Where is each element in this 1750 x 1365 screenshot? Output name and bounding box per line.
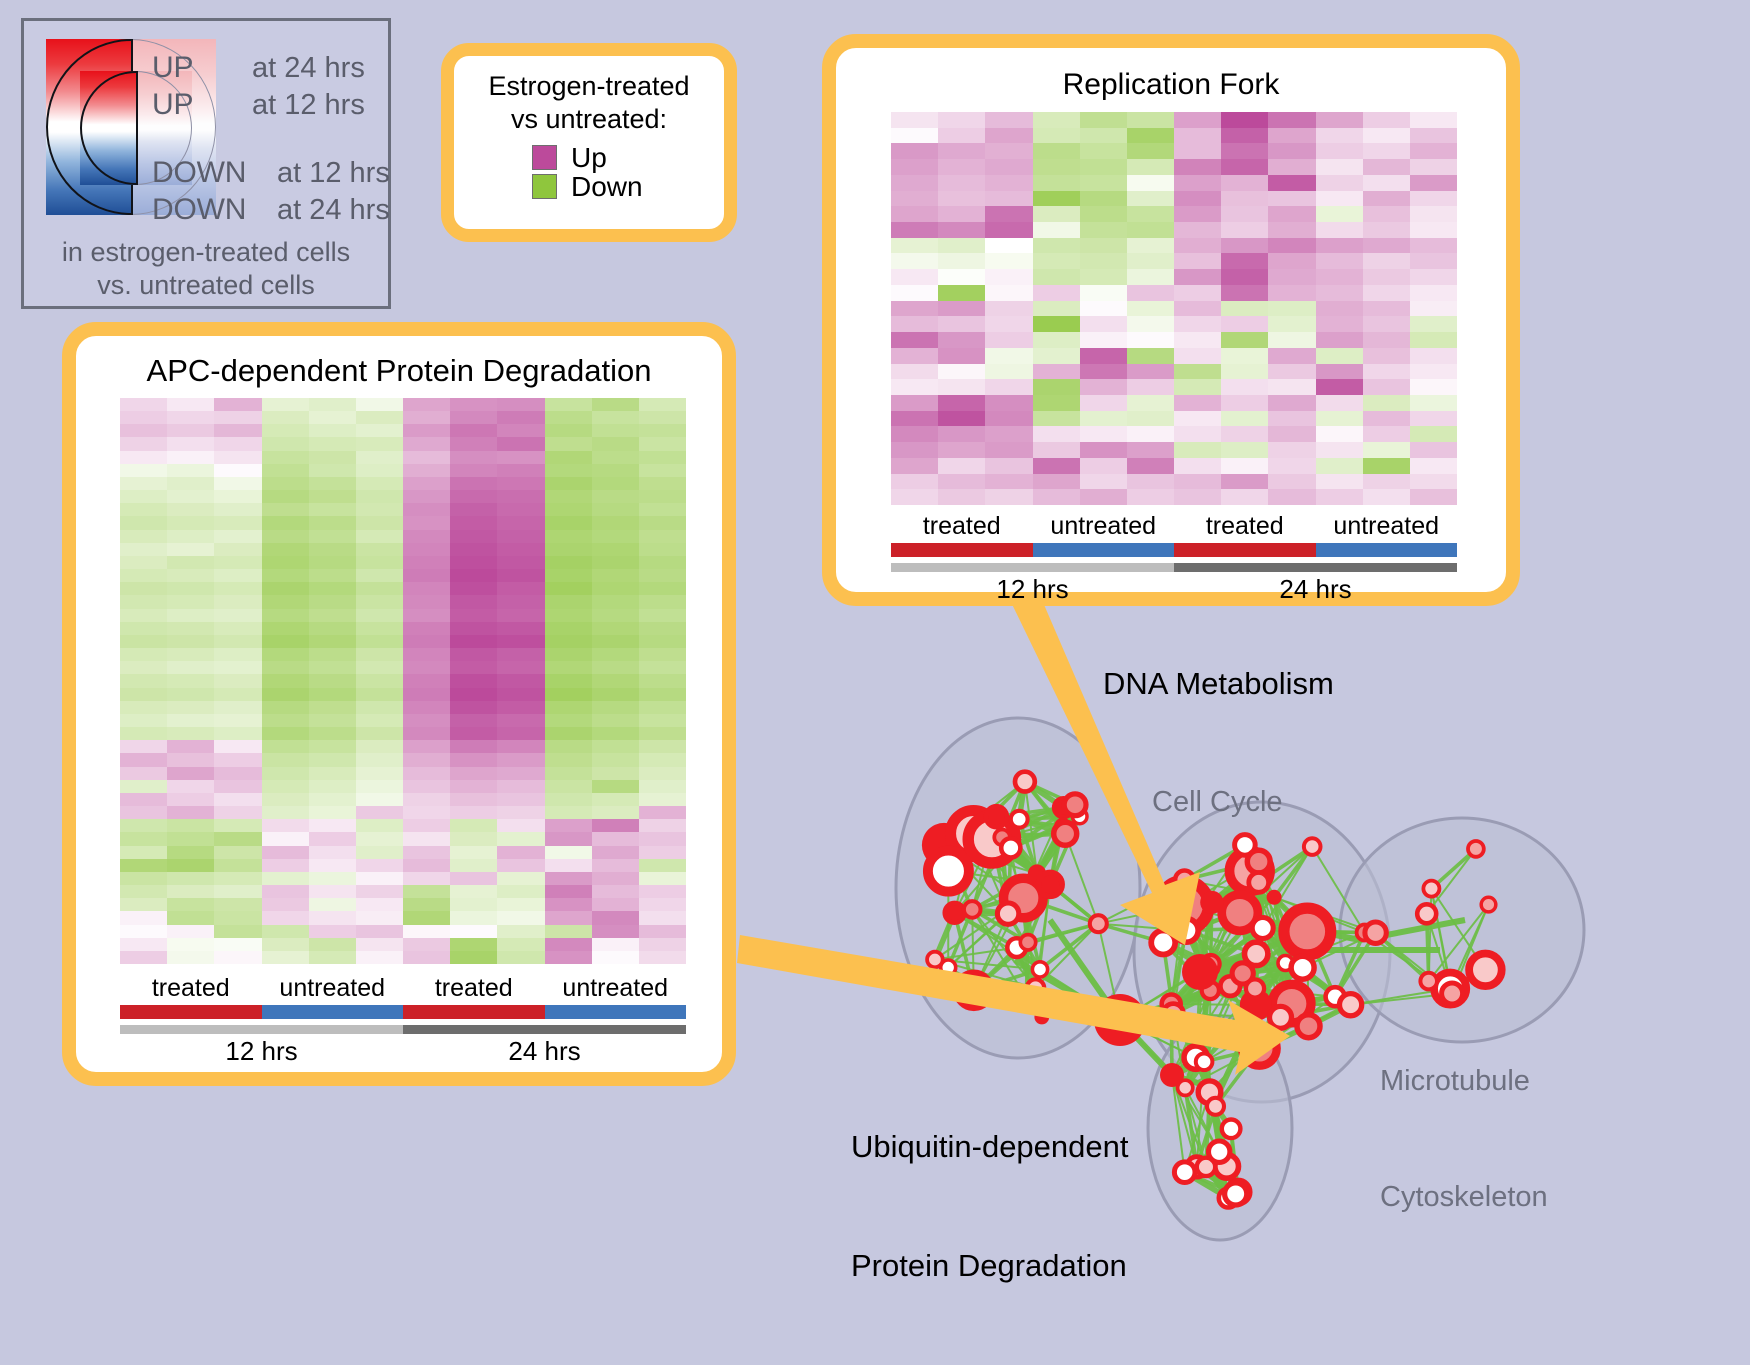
heatmap-cell: [1363, 395, 1410, 411]
color-key-title-line2: vs untreated:: [454, 103, 724, 136]
heatmap-cell: [1268, 222, 1315, 238]
network-node[interactable]: [1252, 918, 1273, 939]
heatmap-cell: [403, 477, 450, 490]
heatmap-cell: [214, 424, 261, 437]
heatmap-cell: [120, 846, 167, 859]
heatmap-cell: [545, 898, 592, 911]
heatmap-cell: [497, 582, 544, 595]
heatmap-cell: [356, 780, 403, 793]
heatmap-cell: [167, 819, 214, 832]
heatmap-cell: [309, 609, 356, 622]
heatmap-cell: [309, 516, 356, 529]
network-node[interactable]: [1011, 811, 1028, 828]
heatmap-cell: [167, 648, 214, 661]
network-node[interactable]: [928, 851, 969, 892]
heatmap-cell: [214, 530, 261, 543]
heatmap-cell: [214, 648, 261, 661]
heatmap-cell: [1033, 301, 1080, 317]
heatmap-cell: [1268, 411, 1315, 427]
heatmap-cell: [545, 846, 592, 859]
network-node[interactable]: [1038, 873, 1062, 897]
heatmap-cell: [545, 714, 592, 727]
heatmap-cell: [309, 911, 356, 924]
heatmap-cell: [120, 595, 167, 608]
heatmap-cell: [1316, 489, 1363, 505]
heatmap-cell: [497, 846, 544, 859]
heatmap-cell: [1410, 175, 1457, 191]
heatmap-cell: [120, 872, 167, 885]
heatmap-cell: [1316, 253, 1363, 269]
color-key-item-up: Up: [532, 144, 724, 172]
heatmap-cell: [1316, 411, 1363, 427]
heatmap-cell: [497, 872, 544, 885]
heatmap-cell: [356, 530, 403, 543]
heatmap-cell: [938, 316, 985, 332]
time-label: 12 hrs: [120, 1036, 403, 1067]
heatmap-cell: [1174, 222, 1221, 238]
heatmap-cell: [497, 503, 544, 516]
heatmap-cell: [120, 701, 167, 714]
heatmap-cell: [120, 898, 167, 911]
network-node[interactable]: [1247, 850, 1270, 873]
heatmap-cell: [938, 222, 985, 238]
network-node[interactable]: [1175, 871, 1194, 890]
heatmap-cell: [167, 701, 214, 714]
heatmap-cell: [1080, 364, 1127, 380]
heatmap-cell: [592, 569, 639, 582]
heatmap-cell: [592, 411, 639, 424]
network-node[interactable]: [1304, 838, 1321, 855]
network-node[interactable]: [1222, 1120, 1241, 1139]
heatmap-cell: [214, 569, 261, 582]
network-node[interactable]: [1340, 994, 1362, 1016]
heatmap-cell: [1127, 269, 1174, 285]
heatmap-cell: [592, 832, 639, 845]
heatmap-cell: [938, 474, 985, 490]
network-node[interactable]: [1151, 931, 1175, 955]
heatmap-cell: [167, 925, 214, 938]
network-node[interactable]: [1297, 1015, 1320, 1038]
heatmap-cell: [403, 701, 450, 714]
heatmap-cell: [1363, 238, 1410, 254]
heatmap-cell: [592, 846, 639, 859]
cluster-label-microtubule-line1: Microtubule: [1380, 1062, 1548, 1101]
heatmap-cell: [891, 442, 938, 458]
heatmap-cell: [1080, 442, 1127, 458]
heatmap-cell: [167, 661, 214, 674]
heatmap-cell: [167, 714, 214, 727]
heatmap-cell: [985, 191, 1032, 207]
heatmap-cell: [1127, 395, 1174, 411]
network-node[interactable]: [1207, 1098, 1224, 1115]
network-node[interactable]: [1015, 772, 1035, 792]
network-node[interactable]: [997, 903, 1018, 924]
heatmap-cell: [639, 464, 686, 477]
heatmap-cell: [891, 112, 938, 128]
heatmap-cell: [214, 740, 261, 753]
heatmap-cell: [262, 911, 309, 924]
heatmap-cell: [938, 238, 985, 254]
heatmap-cell: [356, 885, 403, 898]
network-node[interactable]: [1175, 919, 1199, 943]
heatmap-cell: [356, 424, 403, 437]
heatmap-cell: [262, 451, 309, 464]
network-node[interactable]: [1182, 954, 1218, 990]
heatmap-cell: [1033, 348, 1080, 364]
heatmap-cell: [1316, 301, 1363, 317]
heatmap-cell: [1410, 332, 1457, 348]
heatmap-cell: [450, 609, 497, 622]
heatmap-cell: [309, 819, 356, 832]
heatmap-cell: [450, 951, 497, 964]
network-node[interactable]: [1284, 908, 1331, 955]
network-node[interactable]: [1242, 1031, 1277, 1066]
heatmap-cell: [1174, 442, 1221, 458]
heatmap-cell: [1174, 489, 1221, 505]
heatmap-cell: [262, 701, 309, 714]
network-node[interactable]: [1064, 794, 1086, 816]
heatmap-cell: [309, 530, 356, 543]
cluster-label-ubiquitin-line2: Protein Degradation: [851, 1246, 1129, 1286]
heatmap-cell: [1127, 348, 1174, 364]
heatmap-cell: [167, 727, 214, 740]
heatmap-cell: [214, 701, 261, 714]
heatmap-cell: [120, 674, 167, 687]
heatmap-cell: [639, 437, 686, 450]
time-labels-row: 12 hrs24 hrs: [120, 1036, 686, 1067]
heatmap-cell: [639, 477, 686, 490]
network-node[interactable]: [1090, 915, 1107, 932]
heatmap-cell: [592, 609, 639, 622]
heatmap-cell: [1174, 474, 1221, 490]
heatmap-cell: [167, 516, 214, 529]
heatmap-cell: [356, 569, 403, 582]
network-node[interactable]: [945, 903, 965, 923]
heatmap-cell: [639, 582, 686, 595]
heatmap-cell: [985, 316, 1032, 332]
heatmap-cell: [262, 582, 309, 595]
network-node[interactable]: [1020, 935, 1035, 950]
heatmap-cell: [262, 846, 309, 859]
swatch-up-icon: [532, 145, 557, 170]
heatmap-cell: [356, 688, 403, 701]
heatmap-cell: [167, 582, 214, 595]
heatmap-cell: [1080, 206, 1127, 222]
heatmap-cell: [938, 253, 985, 269]
heatmap-cell: [985, 143, 1032, 159]
network-node[interactable]: [1054, 822, 1077, 845]
heatmap-cell: [450, 898, 497, 911]
heatmap-cell: [167, 424, 214, 437]
heatmap-cell: [309, 635, 356, 648]
network-node[interactable]: [1001, 838, 1020, 857]
heatmap-cell: [1174, 253, 1221, 269]
heatmap-cell: [403, 398, 450, 411]
heatmap-cell: [891, 269, 938, 285]
heatmap-cell: [1221, 143, 1268, 159]
network-node[interactable]: [1160, 1063, 1184, 1087]
cluster-label-dna-metabolism: DNA Metabolism: [1103, 666, 1334, 702]
heatmap-cell: [592, 543, 639, 556]
heatmap-cell: [592, 925, 639, 938]
heatmap-cell: [639, 938, 686, 951]
heatmap-cell: [450, 740, 497, 753]
heatmap-cell: [120, 622, 167, 635]
heatmap-cell: [309, 898, 356, 911]
network-node[interactable]: [1291, 956, 1314, 979]
heatmap-cell: [592, 819, 639, 832]
heatmap-cell: [985, 159, 1032, 175]
condition-bar-segment: [545, 1005, 687, 1019]
heatmap-cell: [120, 451, 167, 464]
heatmap-cell: [450, 701, 497, 714]
heatmap-cell: [356, 411, 403, 424]
heatmap-cell: [262, 714, 309, 727]
heatmap-cell: [403, 846, 450, 859]
network-node[interactable]: [1196, 1054, 1213, 1071]
heatmap-cell: [938, 332, 985, 348]
heatmap-cell: [1127, 364, 1174, 380]
heatmap-cell: [985, 222, 1032, 238]
heatmap-cell: [545, 780, 592, 793]
heatmap-cell: [120, 951, 167, 964]
heatmap-cell: [1080, 128, 1127, 144]
heatmap-cell: [639, 714, 686, 727]
heatmap-cell: [639, 674, 686, 687]
heatmap-cell: [497, 424, 544, 437]
heatmap-cell: [1268, 489, 1315, 505]
heatmap-cell: [167, 595, 214, 608]
heatmap-cell: [309, 543, 356, 556]
heatmap-cell: [1080, 159, 1127, 175]
network-node[interactable]: [927, 952, 943, 968]
heatmap-cell: [167, 885, 214, 898]
heatmap-cell: [545, 951, 592, 964]
heatmap-cell: [1033, 379, 1080, 395]
heatmap-cell: [639, 740, 686, 753]
heatmap-cell: [1363, 332, 1410, 348]
heatmap-cell: [938, 458, 985, 474]
heatmap-cell: [450, 648, 497, 661]
heatmap-cell: [403, 911, 450, 924]
heatmap-cell: [1410, 442, 1457, 458]
heatmap-cell: [356, 543, 403, 556]
heatmap-cell: [450, 832, 497, 845]
heatmap-cell: [545, 490, 592, 503]
heatmap-cell: [1363, 175, 1410, 191]
heatmap-cell: [309, 938, 356, 951]
heatmap-cell: [1174, 364, 1221, 380]
panel-title-replication-fork: Replication Fork: [836, 68, 1506, 102]
heatmap-cell: [1363, 426, 1410, 442]
network-node[interactable]: [1468, 841, 1484, 857]
axis-apc: treateduntreatedtreateduntreated 12 hrs2…: [120, 974, 686, 1067]
heatmap-cell: [1221, 411, 1268, 427]
heatmap-cell: [1221, 301, 1268, 317]
condition-color-bar: [120, 1005, 686, 1019]
heatmap-cell: [403, 582, 450, 595]
network-node[interactable]: [1267, 890, 1282, 905]
heatmap-cell: [1268, 253, 1315, 269]
heatmap-cell: [1410, 269, 1457, 285]
heatmap-cell: [450, 556, 497, 569]
heatmap-cell: [356, 793, 403, 806]
heatmap-cell: [1080, 143, 1127, 159]
heatmap-cell: [1127, 128, 1174, 144]
heatmap-cell: [120, 424, 167, 437]
heatmap-cell: [356, 451, 403, 464]
network-node[interactable]: [1017, 989, 1035, 1007]
heatmap-cell: [262, 595, 309, 608]
heatmap-cell: [1316, 426, 1363, 442]
heatmap-cell: [1221, 222, 1268, 238]
heatmap-cell: [262, 740, 309, 753]
network-node[interactable]: [1034, 1010, 1049, 1025]
heatmap-cell: [1033, 159, 1080, 175]
legend-footer-line2: vs. untreated cells: [24, 269, 388, 302]
heatmap-cell: [1221, 238, 1268, 254]
heatmap-cell: [356, 859, 403, 872]
heatmap-cell: [262, 411, 309, 424]
network-node[interactable]: [1246, 979, 1264, 997]
heatmap-cell: [356, 727, 403, 740]
network-node[interactable]: [964, 901, 981, 918]
heatmap-cell: [545, 609, 592, 622]
heatmap-cell: [1174, 301, 1221, 317]
heatmap-cell: [403, 819, 450, 832]
heatmap-cell: [1033, 442, 1080, 458]
network-node[interactable]: [1174, 1162, 1195, 1183]
heatmap-cell: [214, 727, 261, 740]
network-node[interactable]: [1481, 897, 1496, 912]
condition-color-bar: [891, 543, 1457, 557]
network-node[interactable]: [986, 806, 1007, 827]
network-node[interactable]: [1469, 954, 1502, 987]
heatmap-cell: [1268, 474, 1315, 490]
heatmap-cell: [262, 477, 309, 490]
heatmap-cell: [450, 885, 497, 898]
heatmap-cell: [403, 925, 450, 938]
heatmap-cell: [450, 806, 497, 819]
legend-label-up-24: UP: [152, 51, 193, 85]
heatmap-cell: [891, 238, 938, 254]
heatmap-cell: [545, 543, 592, 556]
heatmap-cell: [592, 622, 639, 635]
heatmap-cell: [592, 530, 639, 543]
heatmap-cell: [214, 753, 261, 766]
heatmap-cell: [262, 543, 309, 556]
heatmap-cell: [167, 451, 214, 464]
heatmap-cell: [403, 635, 450, 648]
heatmap-cell: [1080, 489, 1127, 505]
heatmap-cell: [639, 569, 686, 582]
heatmap-cell: [639, 411, 686, 424]
heatmap-cell: [592, 451, 639, 464]
network-node[interactable]: [1163, 1004, 1183, 1024]
heatmap-cell: [1268, 442, 1315, 458]
heatmap-cell: [1268, 238, 1315, 254]
panel-apc-degradation: APC-dependent Protein Degradation treate…: [62, 322, 736, 1086]
heatmap-cell: [938, 191, 985, 207]
heatmap-cell: [497, 727, 544, 740]
heatmap-cell: [497, 569, 544, 582]
heatmap-cell: [545, 674, 592, 687]
heatmap-cell: [1410, 143, 1457, 159]
heatmap-cell: [214, 767, 261, 780]
condition-bar-segment: [403, 1005, 545, 1019]
network-node[interactable]: [1032, 962, 1047, 977]
heatmap-cell: [167, 477, 214, 490]
heatmap-cell: [1033, 222, 1080, 238]
heatmap-cell: [1316, 175, 1363, 191]
heatmap-cell: [639, 832, 686, 845]
heatmap-cell: [1080, 332, 1127, 348]
heatmap-cell: [309, 780, 356, 793]
heatmap-cell: [985, 411, 1032, 427]
heatmap-cell: [1221, 332, 1268, 348]
condition-label: treated: [403, 974, 545, 1003]
heatmap-cell: [1080, 395, 1127, 411]
heatmap-cell: [1127, 175, 1174, 191]
condition-bar-segment: [262, 1005, 404, 1019]
heatmap-cell: [1268, 128, 1315, 144]
network-node[interactable]: [957, 974, 991, 1008]
network-node[interactable]: [1417, 904, 1436, 923]
network-node[interactable]: [1270, 1006, 1292, 1028]
network-node[interactable]: [1094, 994, 1146, 1046]
network-node[interactable]: [1225, 1183, 1247, 1205]
network-node[interactable]: [1209, 1141, 1230, 1162]
network-node[interactable]: [1423, 881, 1439, 897]
heatmap-cell: [214, 622, 261, 635]
heatmap-cell: [356, 938, 403, 951]
heatmap-cell: [1268, 332, 1315, 348]
heatmap-cell: [262, 635, 309, 648]
heatmap-cell: [356, 951, 403, 964]
network-node[interactable]: [1249, 873, 1269, 893]
network-node[interactable]: [1365, 922, 1386, 943]
heatmap-cell: [214, 714, 261, 727]
heatmap-cell: [1080, 316, 1127, 332]
heatmap-cell: [545, 753, 592, 766]
heatmap-cell: [167, 688, 214, 701]
heatmap-cell: [1268, 269, 1315, 285]
heatmap-cell: [167, 898, 214, 911]
condition-label: untreated: [545, 974, 687, 1003]
heatmap-cell: [262, 780, 309, 793]
heatmap-cell: [938, 285, 985, 301]
heatmap-cell: [356, 437, 403, 450]
heatmap-cell: [120, 885, 167, 898]
heatmap-cell: [309, 556, 356, 569]
cluster-label-ubiquitin-degradation: Ubiquitin-dependent Protein Degradation: [851, 1048, 1129, 1365]
heatmap-cell: [356, 872, 403, 885]
network-node[interactable]: [1200, 891, 1223, 914]
heatmap-cell: [262, 424, 309, 437]
heatmap-cell: [120, 661, 167, 674]
heatmap-cell: [356, 648, 403, 661]
heatmap-cell: [450, 688, 497, 701]
heatmap-cell: [167, 622, 214, 635]
heatmap-cell: [1127, 379, 1174, 395]
heatmap-cell: [1268, 348, 1315, 364]
heatmap-cell: [639, 503, 686, 516]
heatmap-cell: [450, 424, 497, 437]
heatmap-cell: [639, 622, 686, 635]
heatmap-cell: [639, 543, 686, 556]
heatmap-cell: [120, 477, 167, 490]
heatmap-cell: [938, 301, 985, 317]
